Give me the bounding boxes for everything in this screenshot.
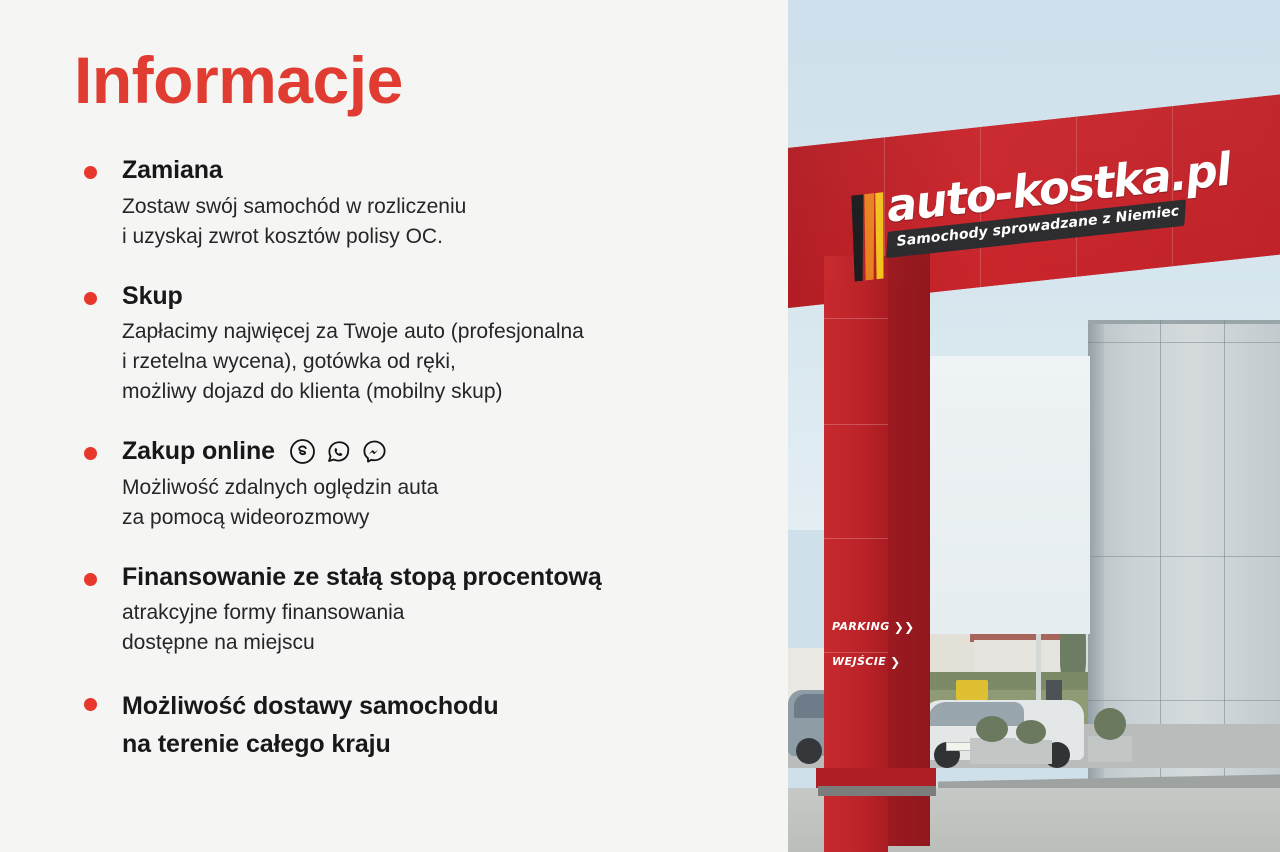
panel-seam	[824, 652, 888, 653]
planter-shrub	[1016, 720, 1046, 744]
bullet-dot-icon	[84, 447, 97, 460]
wall-seam	[1160, 320, 1161, 784]
messenger-icon[interactable]	[361, 438, 388, 465]
item-description: Zapłacimy najwięcej za Twoje auto (profe…	[122, 317, 748, 407]
item-heading-text: Zakup online	[122, 436, 275, 467]
gate-pillar-base	[816, 768, 936, 788]
item-heading: Zakup online	[122, 436, 748, 467]
bullet-dot-icon	[84, 698, 97, 711]
wayfinding-parking-label: PARKING	[832, 620, 890, 633]
item-heading-text: Możliwość dostawy samochodu na terenie c…	[122, 687, 748, 763]
item-heading: Finansowanie ze stałą stopą procentową	[122, 562, 748, 593]
bullet-dot-icon	[84, 292, 97, 305]
wall-seam	[1088, 700, 1280, 701]
dealership-photo: PARKING ❯❯ WEJŚCIE ❯ auto-kostka.pl	[788, 0, 1280, 852]
info-list: Zamiana Zostaw swój samochód w rozliczen…	[74, 155, 748, 763]
panel-seam	[824, 318, 888, 319]
chat-icons-group	[289, 438, 388, 465]
slide-root: Informacje Zamiana Zostaw swój samochód …	[0, 0, 1280, 852]
gate-pillar	[824, 256, 888, 852]
car-wheel	[796, 738, 822, 764]
bullet-dot-icon	[84, 166, 97, 179]
bullet-dot-icon	[84, 573, 97, 586]
wall-seam	[1088, 556, 1280, 557]
wayfinding-entrance: WEJŚCIE ❯	[832, 655, 901, 668]
info-panel: Informacje Zamiana Zostaw swój samochód …	[0, 0, 788, 852]
list-item-zamiana: Zamiana Zostaw swój samochód w rozliczen…	[74, 155, 748, 252]
chevron-right-icon: ❯❯	[894, 621, 915, 633]
item-description: Możliwość zdalnych oględzin auta za pomo…	[122, 473, 748, 533]
panel-seam	[824, 424, 888, 425]
list-item-zakup-online: Zakup online	[74, 436, 748, 533]
chevron-right-icon: ❯	[890, 656, 900, 668]
item-heading-text: Finansowanie ze stałą stopą procentową	[122, 562, 602, 593]
planter-shrub	[1094, 708, 1126, 740]
list-item-skup: Skup Zapłacimy najwięcej za Twoje auto (…	[74, 281, 748, 408]
item-heading-text: Skup	[122, 281, 183, 312]
list-item-finansowanie: Finansowanie ze stałą stopą procentową a…	[74, 562, 748, 659]
gate-pillar-inner-face	[888, 246, 930, 846]
photo-scene: PARKING ❯❯ WEJŚCIE ❯ auto-kostka.pl	[788, 0, 1280, 852]
whatsapp-icon[interactable]	[325, 438, 352, 465]
wayfinding-parking: PARKING ❯❯	[832, 620, 915, 633]
wall-seam	[1088, 342, 1280, 343]
wayfinding-entrance-label: WEJŚCIE	[832, 655, 886, 668]
light-panel	[928, 356, 1090, 634]
item-heading-text: Zamiana	[122, 155, 223, 186]
item-heading: Zamiana	[122, 155, 748, 186]
item-description: atrakcyjne formy finansowania dostępne n…	[122, 598, 748, 658]
item-description: Zostaw swój samochód w rozliczeniu i uzy…	[122, 192, 748, 252]
planter-shrub	[976, 716, 1008, 742]
item-heading: Skup	[122, 281, 748, 312]
wall-seam	[1224, 320, 1225, 784]
page-title: Informacje	[74, 46, 748, 115]
wall-top-edge	[1088, 320, 1280, 324]
gate-pillar-foot	[818, 786, 936, 796]
list-item-dostawa: Możliwość dostawy samochodu na terenie c…	[74, 687, 748, 763]
car-window	[928, 702, 1024, 726]
skype-icon[interactable]	[289, 438, 316, 465]
panel-seam	[824, 538, 888, 539]
yellow-machine	[956, 680, 988, 700]
